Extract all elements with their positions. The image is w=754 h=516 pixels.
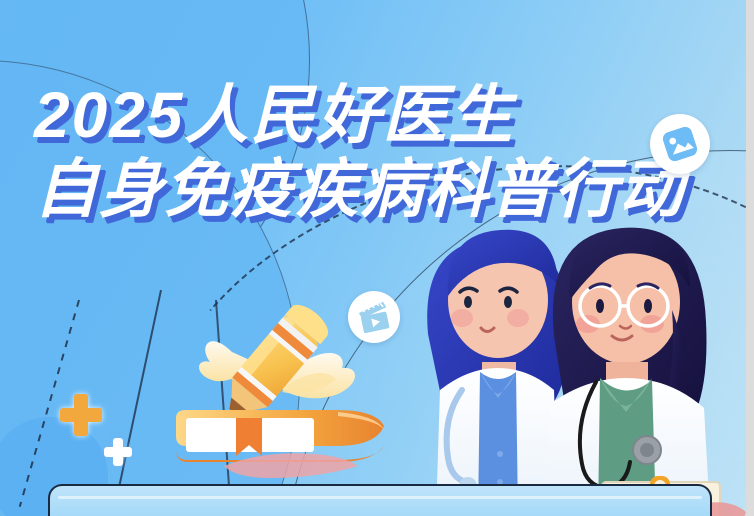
page-title: 2025人民好医生 自身免疫疾病科普行动 [34,78,684,226]
desk-counter [48,484,712,516]
image-badge[interactable] [650,114,710,174]
poster-canvas: 2025人民好医生 自身免疫疾病科普行动 [0,0,746,516]
plus-white-icon [104,438,132,466]
plus-orange-icon [60,394,102,436]
video-badge[interactable] [348,291,400,343]
hand-shape [224,453,358,478]
image-icon [659,123,701,165]
right-edge-strip [746,0,754,516]
title-line-1: 2025人民好医生 [34,78,684,152]
doctor-right [546,228,746,516]
title-line-2: 自身免疫疾病科普行动 [34,152,684,226]
clapperboard-play-icon [357,300,391,334]
doctors-illustration [404,214,746,516]
doctor-left [427,230,568,516]
